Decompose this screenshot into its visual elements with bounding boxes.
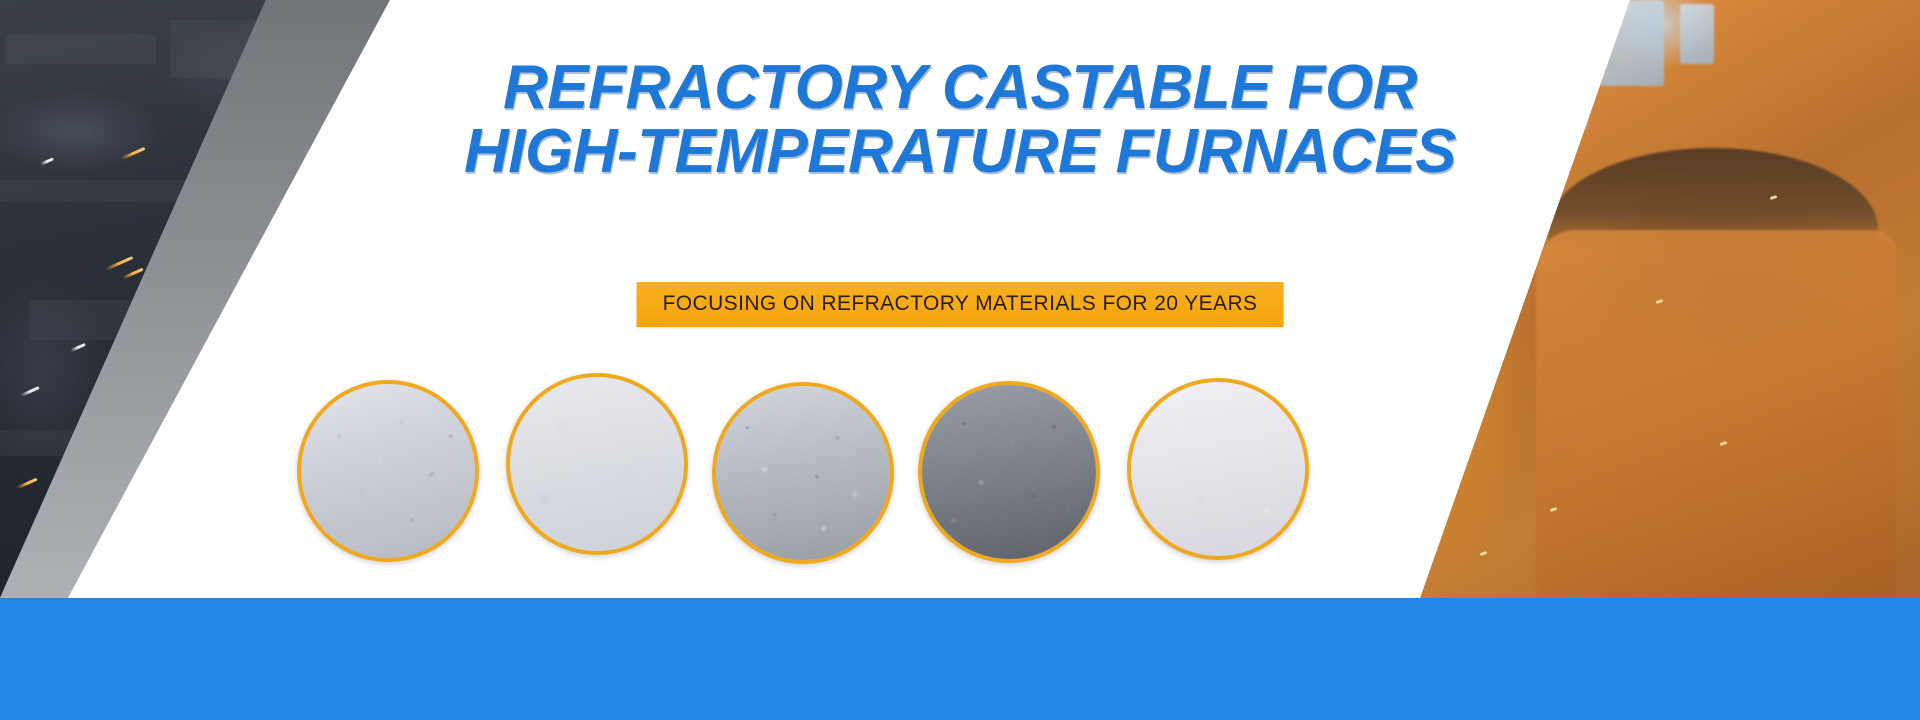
spark: [20, 386, 39, 397]
headline-line-2: HIGH-TEMPERATURE FURNACES: [0, 120, 1920, 184]
spark: [16, 478, 37, 490]
product-texture-2: [510, 377, 684, 551]
promotional-banner: REFRACTORY CASTABLE FOR HIGH-TEMPERATURE…: [0, 0, 1920, 720]
product-circle-5[interactable]: [1127, 378, 1309, 560]
page-title: REFRACTORY CASTABLE FOR HIGH-TEMPERATURE…: [0, 56, 1920, 184]
product-texture-5: [1131, 382, 1305, 556]
product-circle-3[interactable]: [712, 382, 894, 564]
spark: [105, 256, 134, 271]
product-circle-2[interactable]: [506, 373, 688, 555]
product-circle-4[interactable]: [918, 381, 1100, 563]
product-circle-1[interactable]: [297, 380, 479, 562]
spark: [70, 343, 86, 352]
bottom-blue-band: [0, 598, 1920, 720]
product-texture-3: [716, 386, 890, 560]
headline-line-1: REFRACTORY CASTABLE FOR: [0, 56, 1920, 120]
product-texture-4: [922, 385, 1096, 559]
spark: [122, 268, 143, 280]
ladle-body: [1536, 230, 1896, 598]
tagline-badge: FOCUSING ON REFRACTORY MATERIALS FOR 20 …: [637, 282, 1284, 327]
window-pane: [1680, 4, 1714, 64]
product-texture-1: [301, 384, 475, 558]
